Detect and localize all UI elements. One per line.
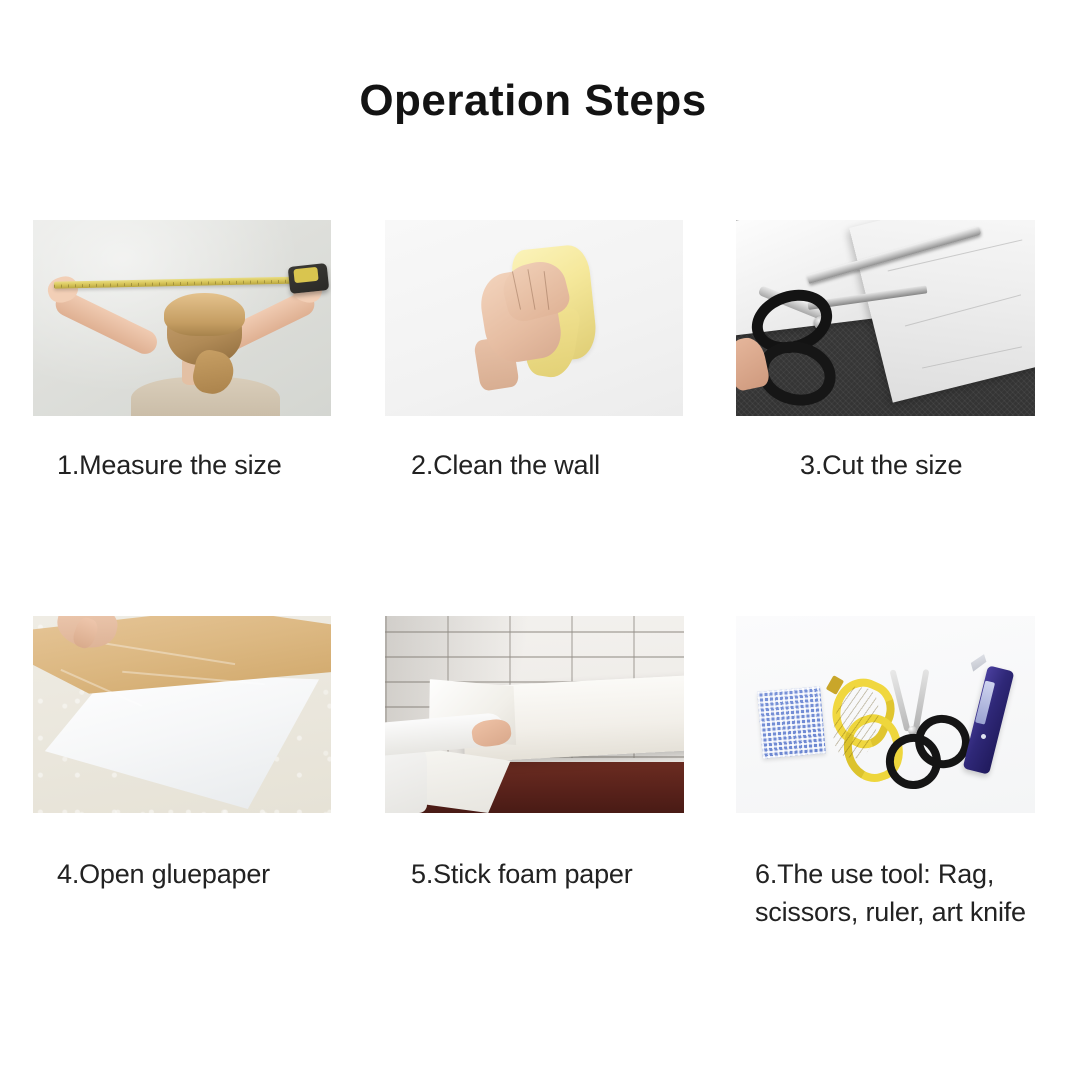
step-caption-6: 6.The use tool: Rag, scissors, ruler, ar… [755,855,1066,932]
scene-clean [385,220,683,416]
rag-tool [757,686,825,758]
step-caption-2: 2.Clean the wall [411,446,711,484]
tape-measure-case-label [293,267,318,283]
step-image-6 [736,616,1035,813]
step-caption-4: 4.Open gluepaper [57,855,377,893]
steps-grid: 1.Measure the size 2.Clean the wall [0,0,1066,1066]
operation-steps-page: Operation Steps [0,0,1066,1066]
scene-gluepaper [33,616,331,813]
step-image-1 [33,220,331,416]
person-hair [164,293,244,336]
step-image-5 [385,616,684,813]
step-image-3 [736,220,1035,416]
scene-tools [736,616,1035,813]
step-image-2 [385,220,683,416]
scene-measure [33,220,331,416]
scene-cut [736,220,1035,416]
step-caption-1: 1.Measure the size [57,446,357,484]
step-image-4 [33,616,331,813]
step-caption-5: 5.Stick foam paper [411,855,731,893]
step-caption-3: 3.Cut the size [800,446,1066,484]
scene-stick [385,616,684,813]
